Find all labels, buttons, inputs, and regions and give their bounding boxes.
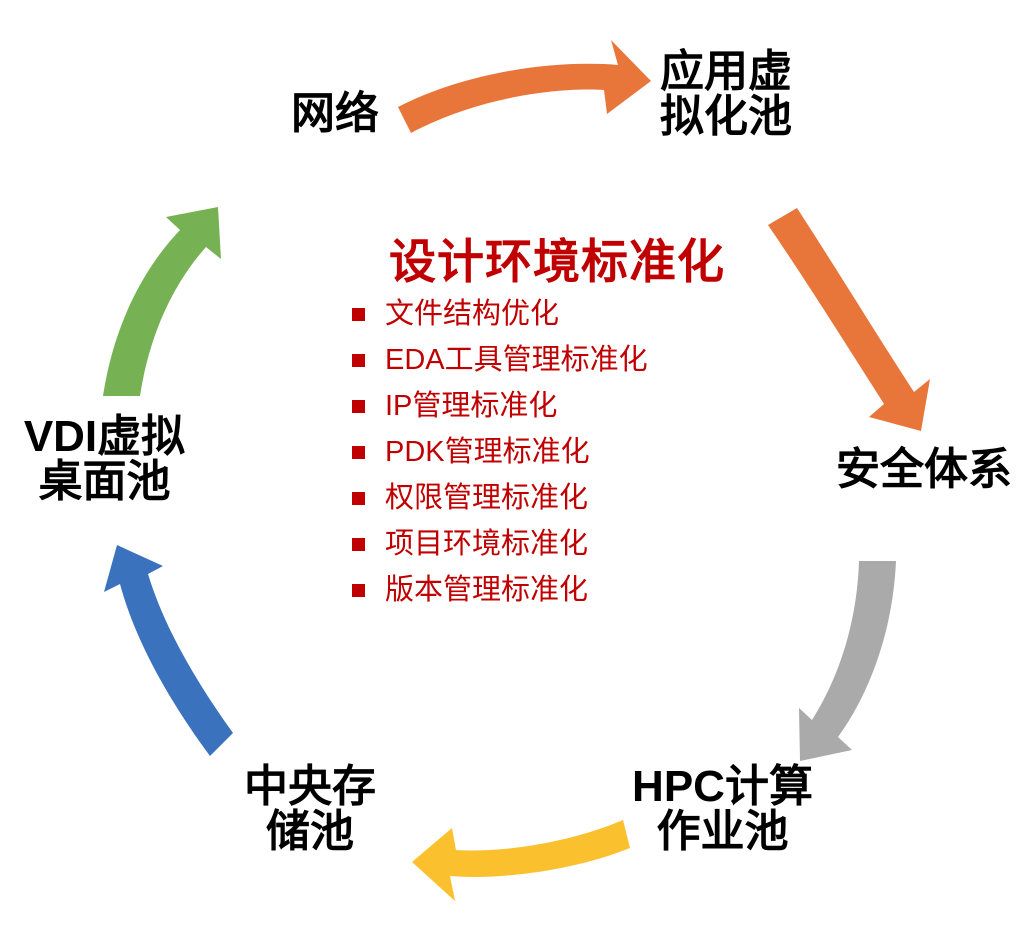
node-label-vdi-virtual-desktop-pool: VDI虚拟 桌面池 bbox=[2, 415, 207, 505]
list-item: 权限管理标准化 bbox=[352, 483, 760, 515]
node-label-hpc-compute-job-pool: HPC计算 作业池 bbox=[610, 765, 835, 855]
standardization-bullet-list: 文件结构优化 EDA工具管理标准化 IP管理标准化 PDK管理标准化 权限管理标… bbox=[340, 299, 760, 607]
list-item: 项目环境标准化 bbox=[352, 529, 760, 561]
list-item: 文件结构优化 bbox=[352, 299, 760, 331]
square-bullet-icon bbox=[352, 538, 365, 551]
square-bullet-icon bbox=[352, 400, 365, 413]
list-item: PDK管理标准化 bbox=[352, 437, 760, 469]
bullet-label: 版本管理标准化 bbox=[385, 576, 588, 605]
list-item: EDA工具管理标准化 bbox=[352, 345, 760, 377]
arrow-vdi-to-network bbox=[103, 207, 221, 396]
list-item: 版本管理标准化 bbox=[352, 575, 760, 607]
arrow-hpc-to-storage bbox=[412, 820, 630, 901]
node-label-central-storage-pool: 中央存 储池 bbox=[215, 765, 405, 855]
arrow-appvirt-to-security bbox=[768, 208, 930, 431]
bullet-label: 文件结构优化 bbox=[385, 300, 559, 329]
square-bullet-icon bbox=[352, 446, 365, 459]
bullet-label: 项目环境标准化 bbox=[385, 530, 588, 559]
arrow-network-to-appvirt bbox=[398, 40, 651, 133]
square-bullet-icon bbox=[352, 354, 365, 367]
node-label-network: 网络 bbox=[250, 92, 420, 137]
center-content-block: 设计环境标准化 文件结构优化 EDA工具管理标准化 IP管理标准化 PDK管理标… bbox=[340, 236, 760, 621]
bullet-label: IP管理标准化 bbox=[385, 392, 557, 421]
list-item: IP管理标准化 bbox=[352, 391, 760, 423]
bullet-label: PDK管理标准化 bbox=[385, 438, 590, 467]
bullet-label: 权限管理标准化 bbox=[385, 484, 588, 513]
node-label-app-virtualization-pool: 应用虚 拟化池 bbox=[636, 50, 816, 140]
square-bullet-icon bbox=[352, 308, 365, 321]
arrow-storage-to-vdi bbox=[104, 545, 233, 756]
square-bullet-icon bbox=[352, 492, 365, 505]
node-label-security-system: 安全体系 bbox=[818, 448, 1030, 493]
arrow-security-to-hpc bbox=[799, 561, 896, 761]
center-title: 设计环境标准化 bbox=[354, 236, 760, 289]
cycle-diagram-canvas: 网络 应用虚 拟化池 安全体系 HPC计算 作业池 中央存 储池 VDI虚拟 桌… bbox=[0, 0, 1030, 950]
bullet-label: EDA工具管理标准化 bbox=[385, 346, 648, 375]
square-bullet-icon bbox=[352, 584, 365, 597]
